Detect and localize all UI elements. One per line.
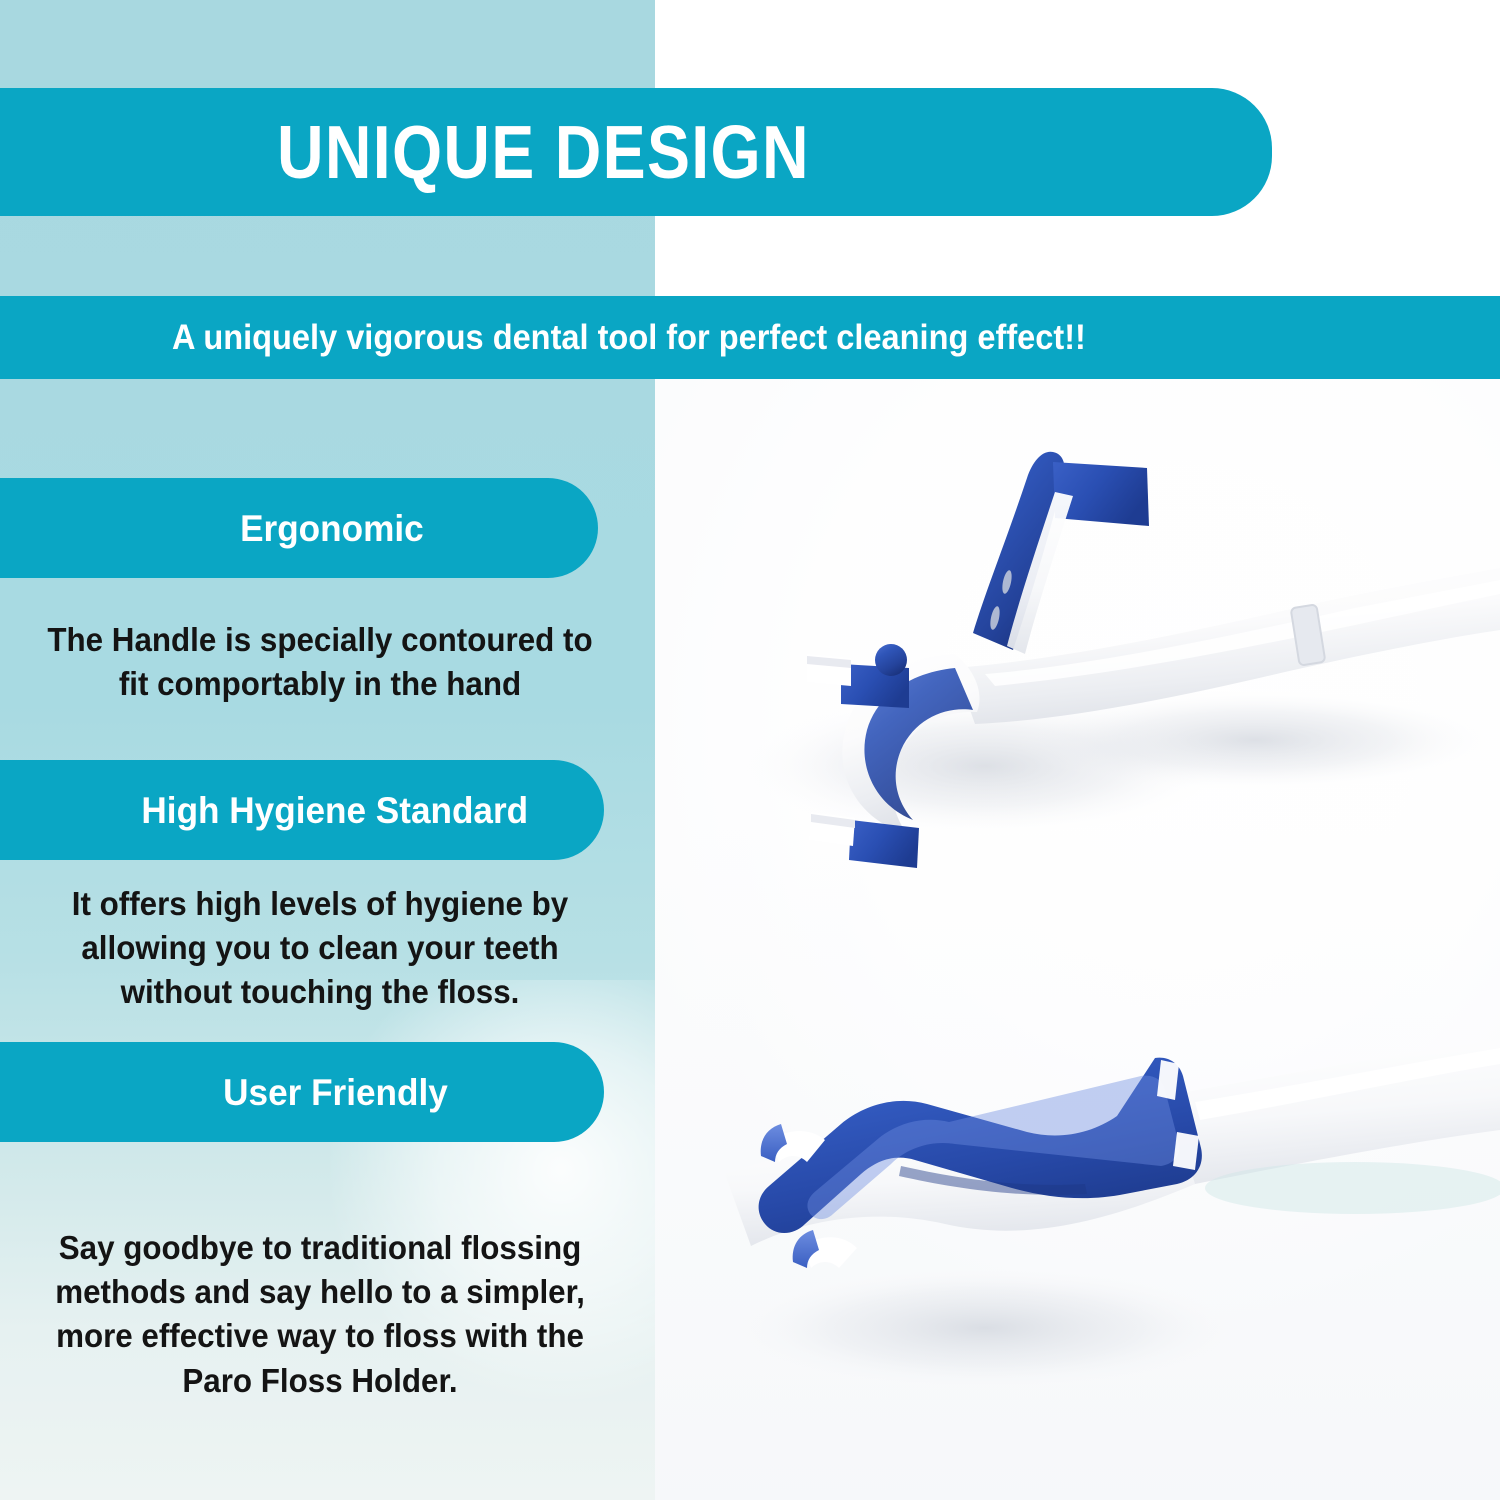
page-title: UNIQUE DESIGN [277, 115, 810, 190]
product-photo-stage [655, 378, 1500, 1500]
feature-body-line: without touching the floss. [16, 970, 624, 1014]
feature-pill-high-hygiene-standard: High Hygiene Standard [0, 760, 604, 860]
lower-notch-right-bottom [1173, 1132, 1199, 1170]
feature-body-line: The Handle is specially contoured to [16, 618, 624, 662]
lower-product-shadow [725, 1266, 1245, 1390]
infographic-page: UNIQUE DESIGN A uniquely vigorous dental… [0, 0, 1500, 1500]
feature-body-ergonomic: The Handle is specially contoured to fit… [0, 618, 640, 706]
product-photo-upper [655, 378, 1500, 928]
lower-teal-reflection [1205, 1162, 1500, 1214]
feature-pill-label: User Friendly [156, 1074, 447, 1111]
lower-prong-lower-left [793, 1230, 857, 1268]
feature-body-user-friendly: Say goodbye to traditional flossing meth… [0, 1226, 640, 1403]
feature-pill-ergonomic: Ergonomic [0, 478, 598, 578]
product-photo-lower [655, 998, 1500, 1418]
feature-pill-user-friendly: User Friendly [0, 1042, 604, 1142]
feature-body-line: Say goodbye to traditional flossing [16, 1226, 624, 1270]
upper-arm-tab [1053, 462, 1149, 526]
page-subtitle: A uniquely vigorous dental tool for perf… [172, 320, 1086, 355]
feature-pill-label: Ergonomic [174, 510, 424, 547]
feature-body-line: allowing you to clean your teeth [16, 926, 624, 970]
subtitle-bar: A uniquely vigorous dental tool for perf… [0, 296, 1500, 379]
feature-pill-label: High Hygiene Standard [75, 792, 528, 829]
title-bar: UNIQUE DESIGN [0, 88, 1272, 216]
feature-body-line: more effective way to floss with the [16, 1314, 624, 1358]
feature-body-line: Paro Floss Holder. [16, 1359, 624, 1403]
upper-fork-prong-top [807, 644, 909, 708]
feature-body-line: methods and say hello to a simpler, [16, 1270, 624, 1314]
feature-body-line: fit comportably in the hand [16, 662, 624, 706]
feature-body-line: It offers high levels of hygiene by [16, 882, 624, 926]
feature-body-high-hygiene-standard: It offers high levels of hygiene by allo… [0, 882, 640, 1015]
